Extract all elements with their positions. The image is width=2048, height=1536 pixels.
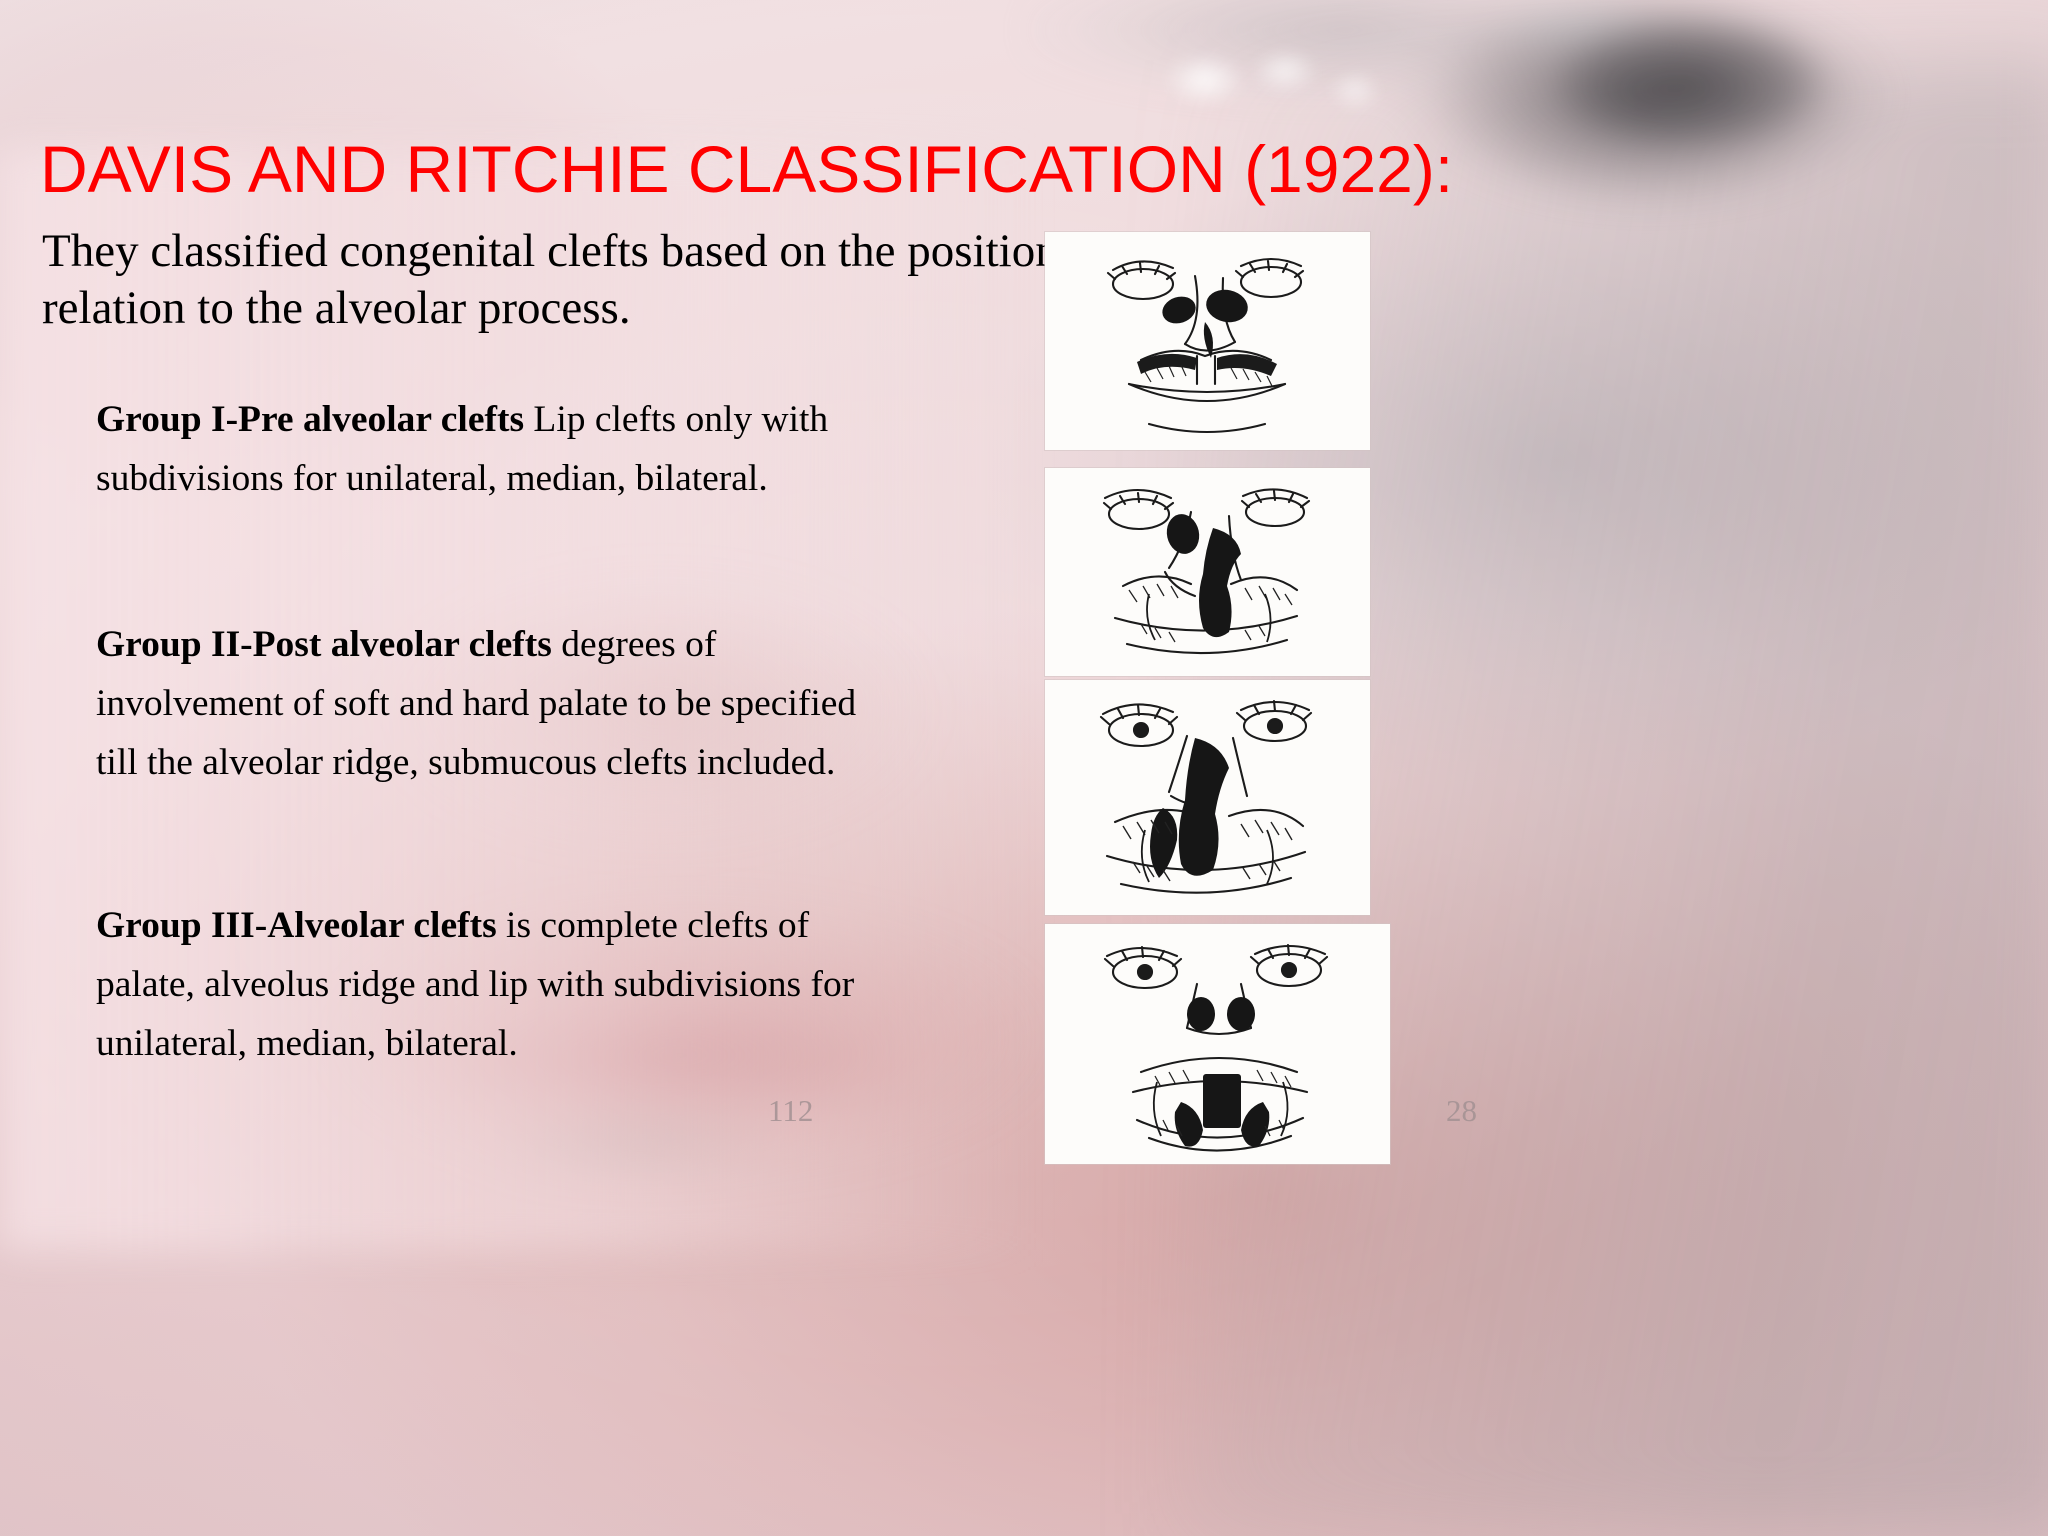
group-2-paragraph: Group II-Post alveolar clefts degrees of…	[96, 615, 886, 793]
complete-unilateral-cleft-illustration	[1045, 680, 1370, 915]
bilateral-cleft-illustration	[1045, 924, 1390, 1164]
pre-alveolar-cleft-illustration	[1045, 232, 1370, 450]
group-3-paragraph: Group III-Alveolar clefts is complete cl…	[96, 896, 886, 1074]
page-number-left: 112	[768, 1093, 813, 1129]
group-2-heading: Group II-Post alveolar clefts	[96, 624, 552, 665]
slide-title: DAVIS AND RITCHIE CLASSIFICATION (1922):	[40, 136, 2030, 202]
group-1-heading: Group I-Pre alveolar clefts	[96, 399, 524, 440]
slide-canvas: DAVIS AND RITCHIE CLASSIFICATION (1922):…	[0, 0, 2048, 1536]
group-3-heading: Group III-Alveolar clefts	[96, 905, 497, 946]
unilateral-cleft-illustration	[1045, 468, 1370, 676]
group-1-paragraph: Group I-Pre alveolar clefts Lip clefts o…	[96, 390, 886, 509]
page-number-right: 28	[1446, 1093, 1477, 1129]
